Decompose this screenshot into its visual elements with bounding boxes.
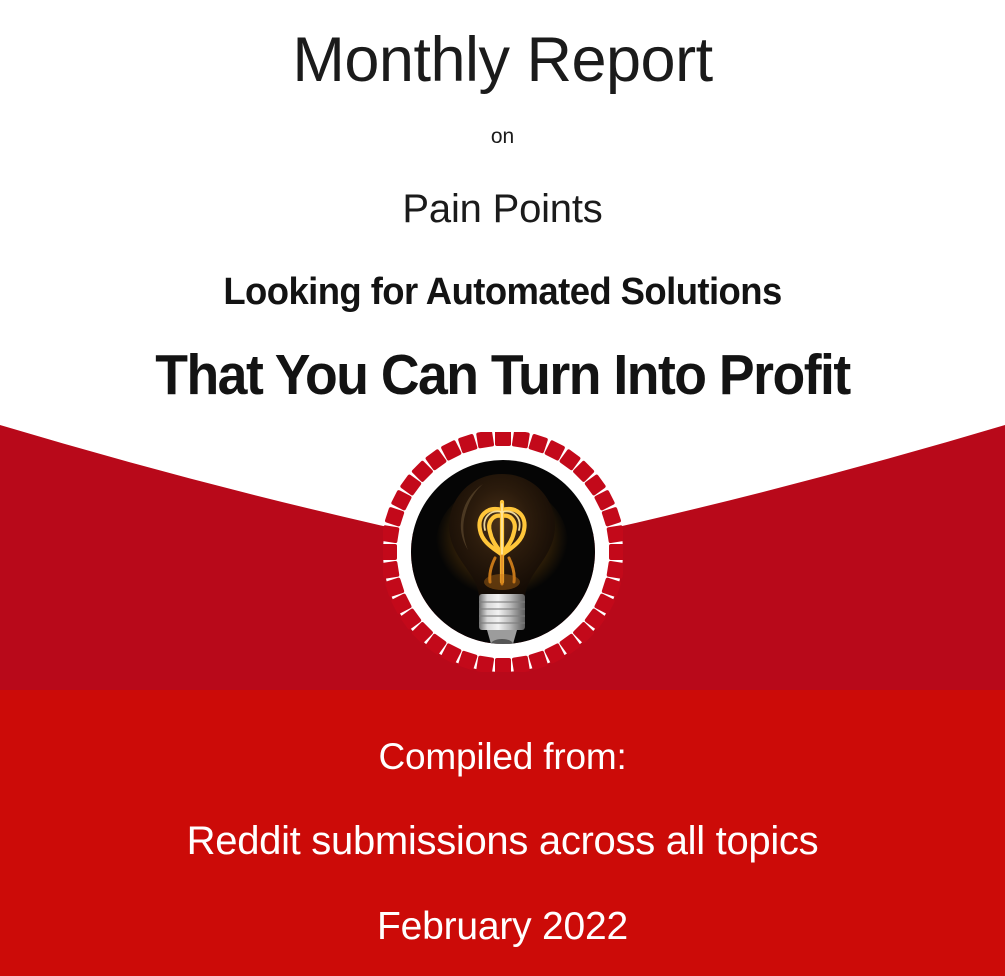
- tagline-secondary: That You Can Turn Into Profit: [30, 311, 975, 404]
- cover-footer: Compiled from: Reddit submissions across…: [0, 712, 1005, 946]
- report-subject: Pain Points: [0, 147, 1005, 229]
- footer-compiled-label: Compiled from:: [0, 712, 1005, 775]
- tagline-primary: Looking for Automated Solutions: [20, 229, 985, 311]
- bulb-base: [479, 594, 525, 630]
- page-title: Monthly Report: [0, 0, 1005, 94]
- title-connector: on: [0, 94, 1005, 147]
- report-cover-page: Monthly Report on Pain Points Looking fo…: [0, 0, 1005, 976]
- lightbulb-emblem: [383, 432, 623, 672]
- footer-date: February 2022: [0, 861, 1005, 946]
- footer-source: Reddit submissions across all topics: [0, 775, 1005, 861]
- cover-header: Monthly Report on Pain Points Looking fo…: [0, 0, 1005, 404]
